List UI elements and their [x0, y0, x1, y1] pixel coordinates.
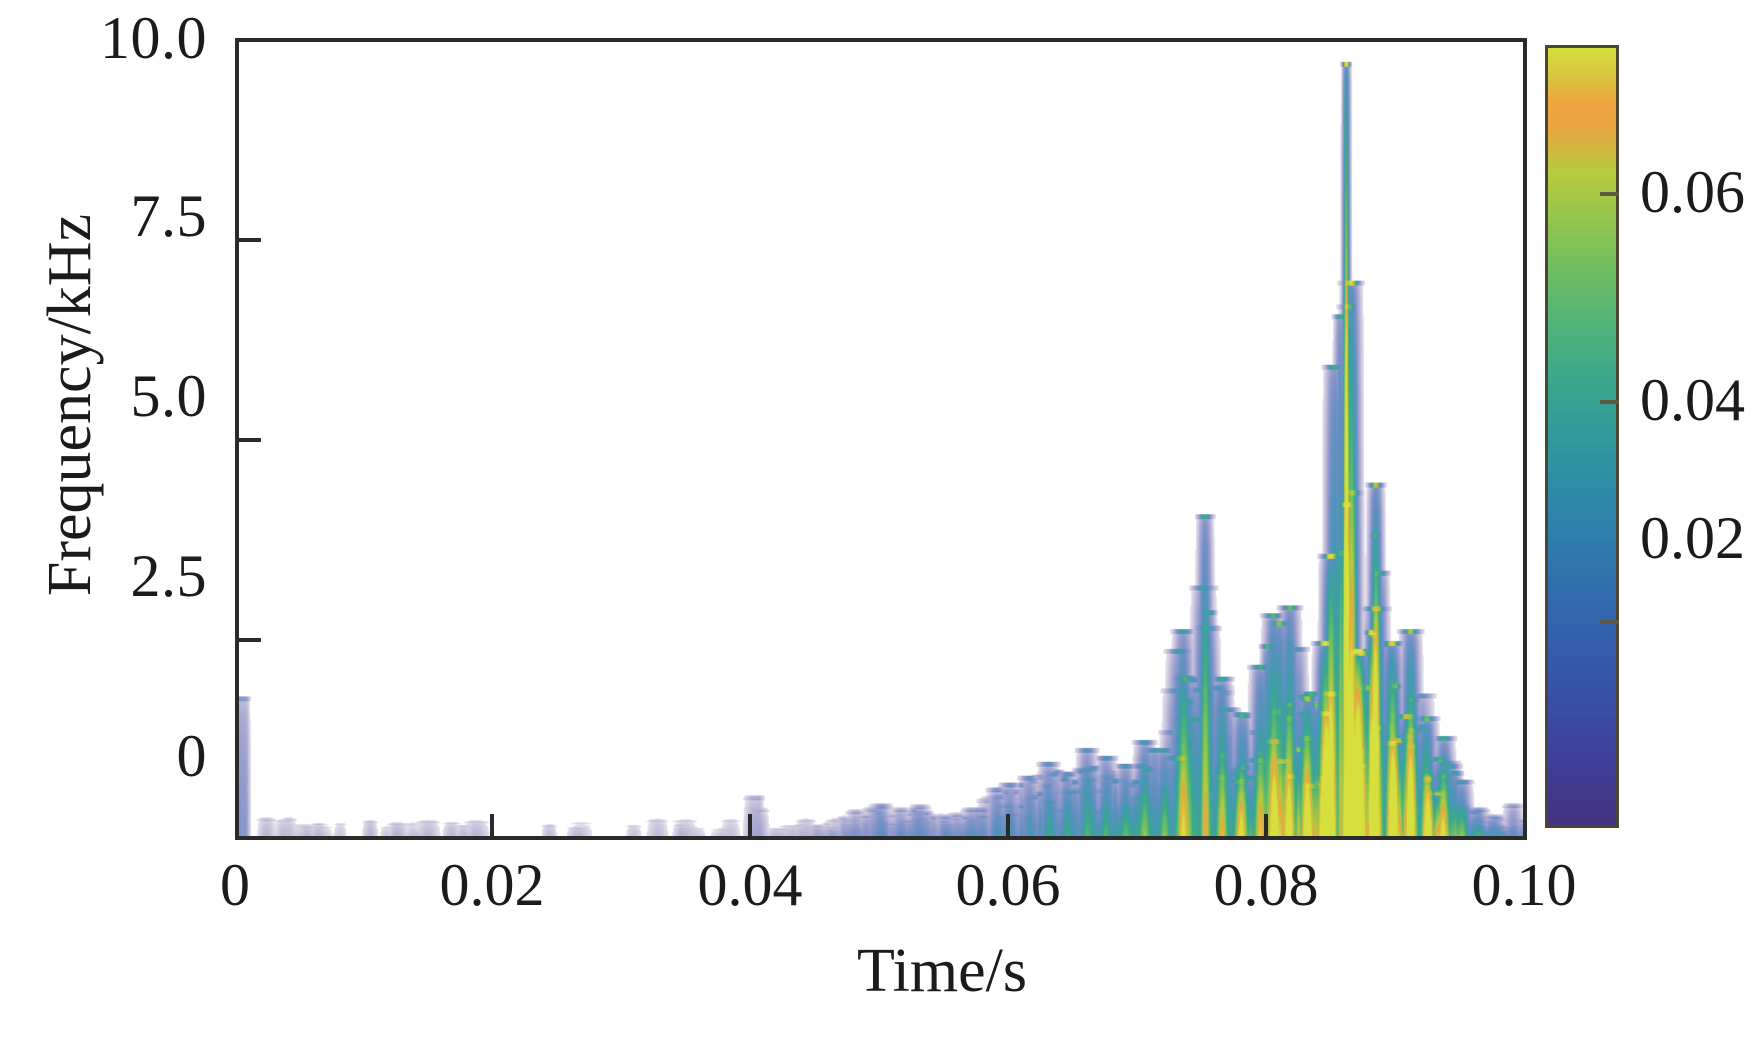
x-tick-mark-0_02 [490, 814, 494, 840]
y-tick-label-2_5: 2.5 [131, 546, 208, 606]
y-tick-label-5: 5.0 [131, 366, 208, 426]
x-tick-label-0_06: 0.06 [956, 855, 1061, 915]
x-tick-label-0_04: 0.04 [698, 855, 803, 915]
colorbar-tick-label-0_04: 0.04 [1640, 370, 1745, 430]
colorbar-gradient [1545, 45, 1619, 828]
x-axis-label: Time/s [0, 940, 1764, 1002]
y-tick-label-7_5: 7.5 [131, 186, 208, 246]
y-tick-label-0: 0 [177, 726, 208, 786]
x-tick-mark-0_04 [748, 814, 752, 840]
x-tick-mark-0_08 [1264, 814, 1268, 840]
x-tick-mark-0_06 [1006, 814, 1010, 840]
y-tick-label-10: 10.0 [100, 8, 207, 68]
x-tick-label-0_08: 0.08 [1214, 855, 1319, 915]
colorbar-tick-label-0_02: 0.02 [1640, 508, 1745, 568]
spectrogram-image [239, 42, 1523, 836]
y-tick-mark-7_5 [235, 238, 261, 242]
x-tick-label-0: 0 [220, 855, 250, 915]
y-tick-mark-2_5 [235, 638, 261, 642]
spectrogram-figure: Frequency/kHz 10.0 7.5 5.0 2.5 0 0 0.02 … [0, 0, 1764, 1039]
colorbar-tick-mark-0_06 [1600, 192, 1619, 196]
colorbar [1545, 45, 1619, 828]
colorbar-tick-mark-0_02 [1600, 620, 1619, 624]
colorbar-tick-mark-0_04 [1600, 400, 1619, 404]
y-tick-mark-5 [235, 438, 261, 442]
x-tick-label-0_02: 0.02 [440, 855, 545, 915]
x-axis-label-text: Time/s [737, 937, 1027, 1005]
plot-area [235, 38, 1527, 840]
x-tick-label-0_10: 0.10 [1472, 855, 1577, 915]
y-axis-label: Frequency/kHz [39, 165, 101, 645]
colorbar-tick-label-0_06: 0.06 [1640, 162, 1745, 222]
